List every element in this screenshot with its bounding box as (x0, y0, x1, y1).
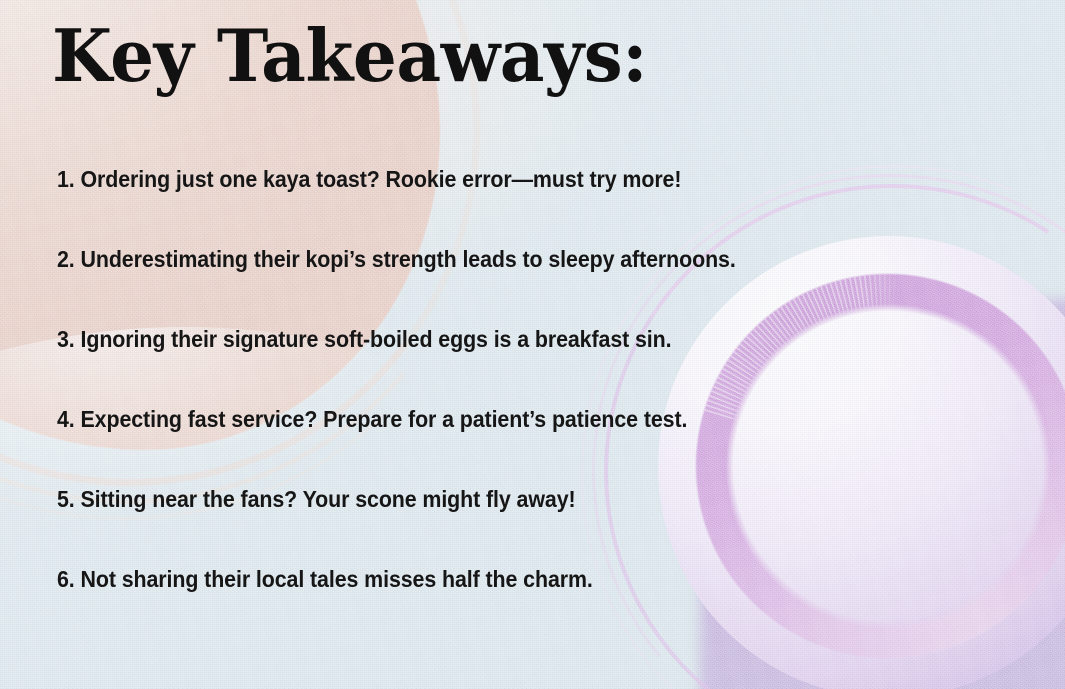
page-title: Key Takeaways: (52, 18, 647, 94)
slide-canvas: Key Takeaways: 1. Ordering just one kaya… (0, 0, 1065, 689)
takeaways-list: 1. Ordering just one kaya toast? Rookie … (57, 140, 1045, 620)
list-item: 3. Ignoring their signature soft-boiled … (57, 300, 976, 380)
list-item: 4. Expecting fast service? Prepare for a… (57, 380, 976, 460)
list-item: 6. Not sharing their local tales misses … (57, 540, 976, 620)
list-item: 2. Underestimating their kopi’s strength… (57, 220, 976, 300)
slide-content: Key Takeaways: 1. Ordering just one kaya… (0, 0, 1065, 689)
list-item: 5. Sitting near the fans? Your scone mig… (57, 460, 976, 540)
list-item: 1. Ordering just one kaya toast? Rookie … (57, 140, 976, 220)
